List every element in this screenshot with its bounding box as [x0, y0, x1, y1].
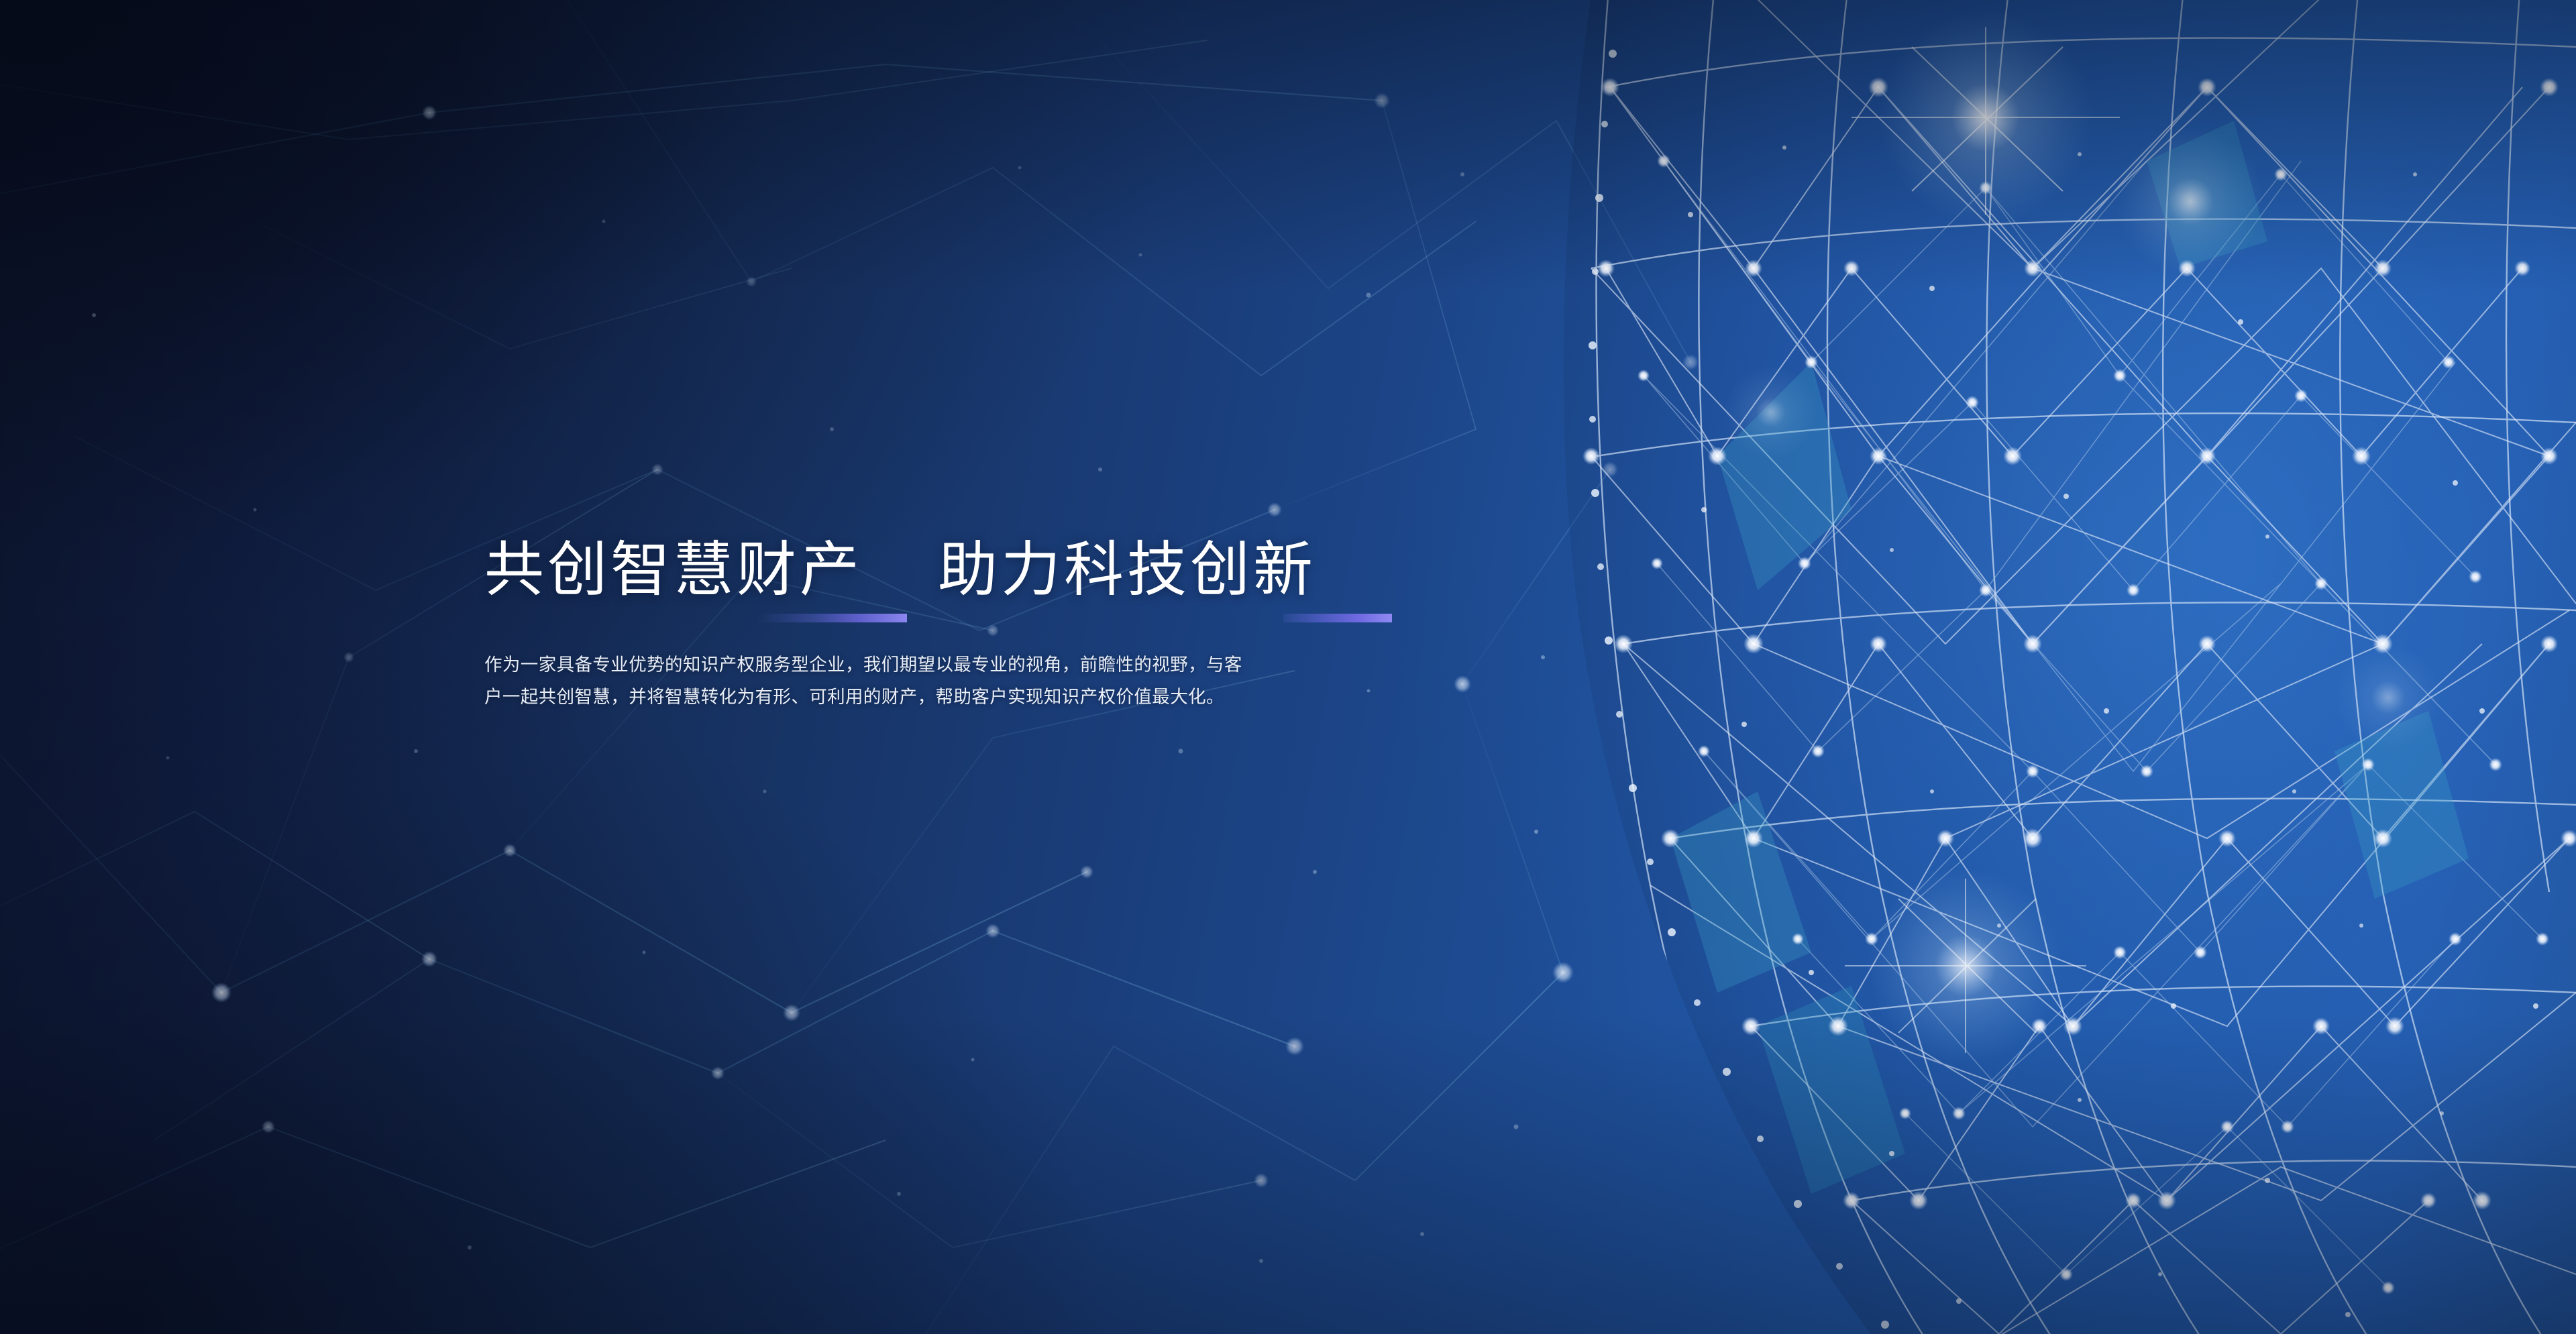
accent-underline-2: [1283, 614, 1392, 622]
headline: 共创智慧财产助力科技创新: [484, 533, 1437, 606]
hero-banner: 共创智慧财产助力科技创新 作为一家具备专业优势的知识产权服务型企业，我们期望以最…: [0, 0, 2576, 1334]
accent-underline-1: [758, 614, 907, 622]
accent-underline-row: [484, 607, 1437, 627]
headline-phrase-2: 助力科技创新: [938, 536, 1316, 603]
hero-text-block: 共创智慧财产助力科技创新 作为一家具备专业优势的知识产权服务型企业，我们期望以最…: [484, 533, 1437, 713]
headline-phrase-1: 共创智慧财产: [484, 536, 863, 603]
hero-paragraph: 作为一家具备专业优势的知识产权服务型企业，我们期望以最专业的视角，前瞻性的视野，…: [484, 649, 1256, 713]
